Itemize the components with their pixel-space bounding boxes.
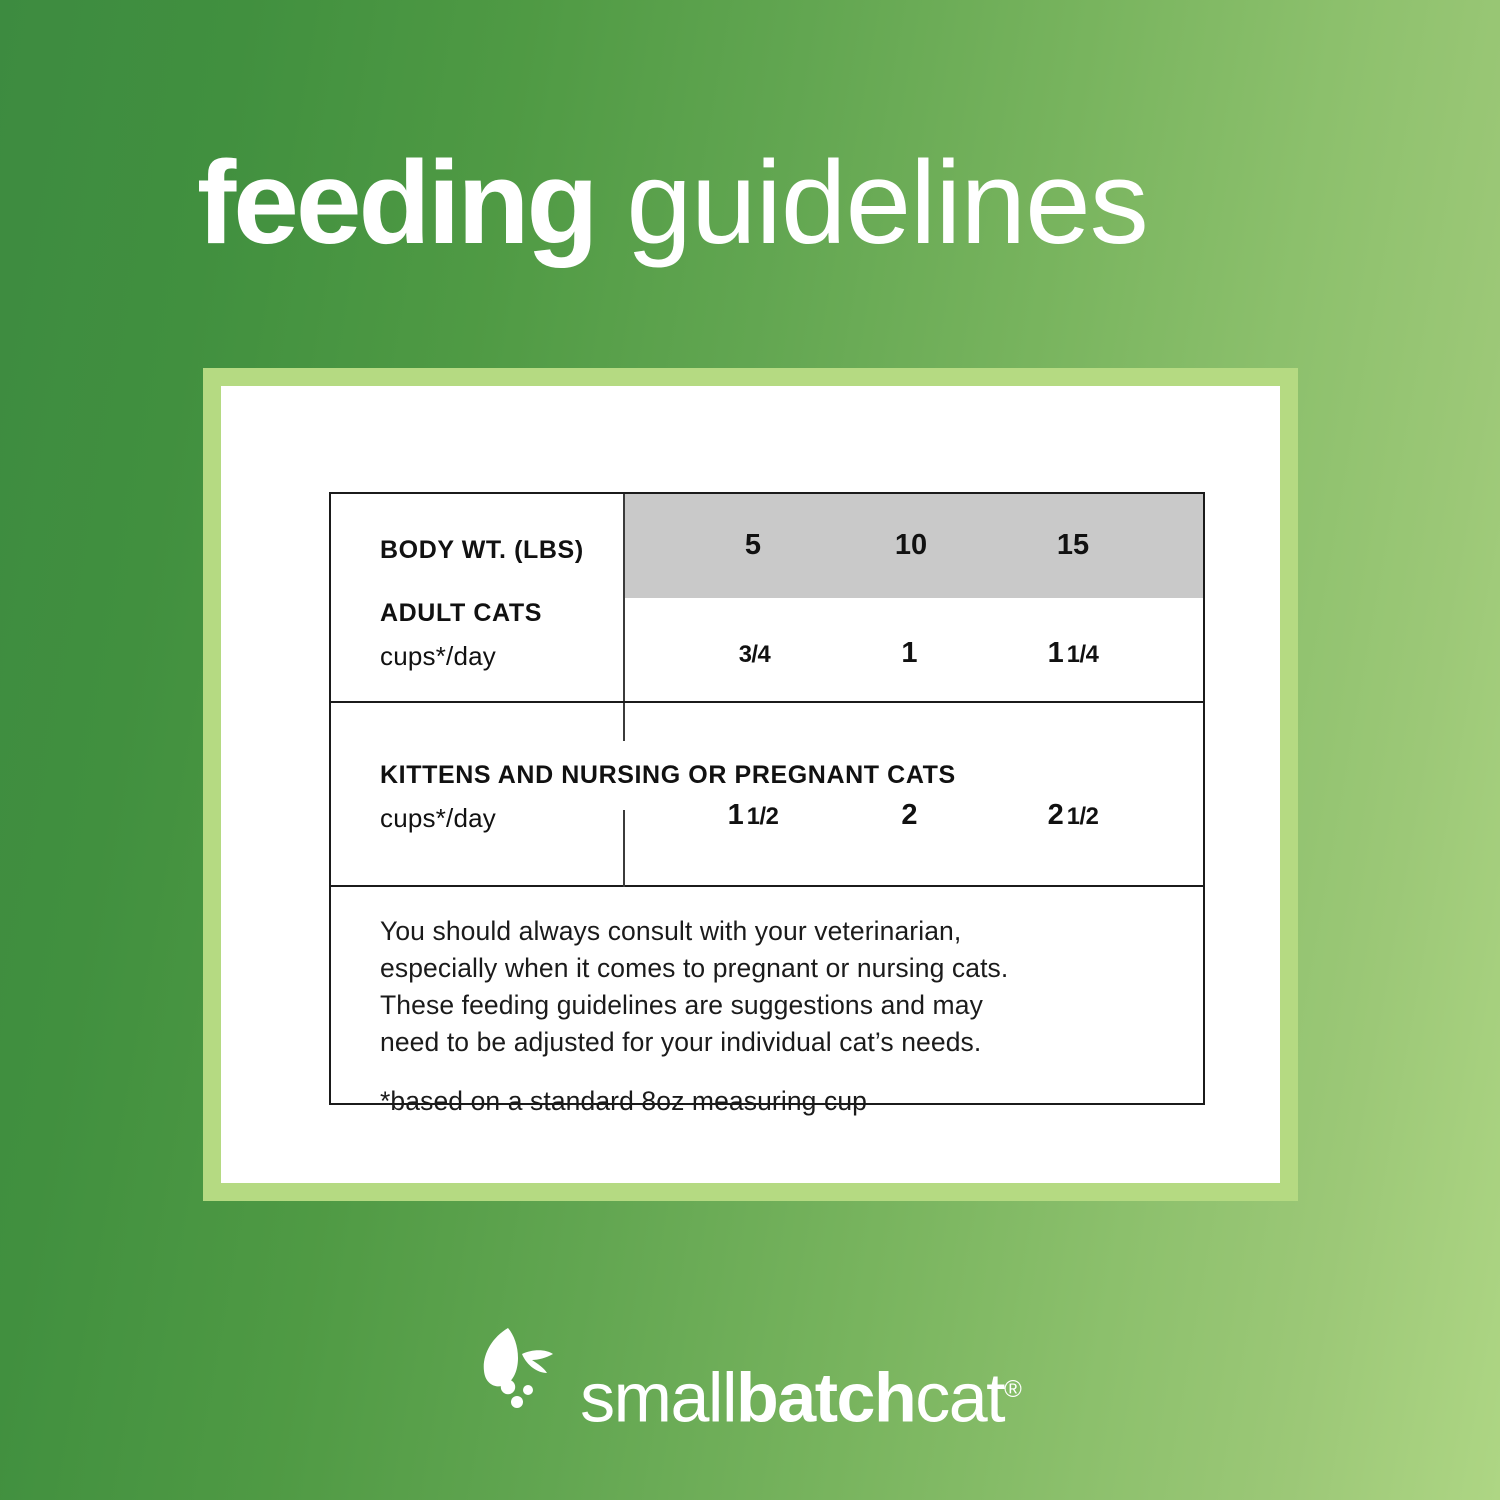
page-title-light: guidelines <box>626 137 1147 269</box>
row-label-adult-cats: ADULT CATS <box>380 599 542 628</box>
table-horizontal-rule <box>331 701 1203 703</box>
disclaimer-line-1: You should always consult with your vete… <box>380 913 1173 950</box>
row-label-body-weight: BODY WT. (LBS) <box>380 536 584 565</box>
table-cell-weight-2: 15 <box>993 529 1153 562</box>
kitten-frac-2: 1/2 <box>1067 803 1099 830</box>
measuring-cup-footnote: *based on a standard 8oz measuring cup <box>380 1083 1173 1120</box>
disclaimer-text: You should always consult with your vete… <box>380 913 1173 1120</box>
disclaimer-box: You should always consult with your vete… <box>329 887 1205 1105</box>
feeding-table: BODY WT. (LBS) ADULT CATS cups*/day KITT… <box>329 492 1205 887</box>
table-cell-weight-1: 10 <box>831 529 991 562</box>
table-cell-adult-1: 1 <box>831 637 991 670</box>
table-vertical-divider-top <box>623 494 625 741</box>
guidelines-card-inner: BODY WT. (LBS) ADULT CATS cups*/day KITT… <box>221 386 1280 1183</box>
disclaimer-line-4: need to be adjusted for your individual … <box>380 1024 1173 1061</box>
brand-logo: smallbatchcat® <box>0 1314 1500 1434</box>
leaf-and-dots-logo-mark <box>478 1326 574 1430</box>
table-cell-kitten-2: 21/2 <box>993 799 1153 832</box>
kitten-whole-0: 1 <box>728 799 744 831</box>
page-title-bold: feeding <box>197 137 596 269</box>
disclaimer-line-3: These feeding guidelines are suggestions… <box>380 987 1173 1024</box>
adult-frac-2: 1/4 <box>1067 641 1099 668</box>
disclaimer-line-2: especially when it comes to pregnant or … <box>380 950 1173 987</box>
table-cell-kitten-0: 11/2 <box>673 799 833 832</box>
kitten-whole-1: 2 <box>901 799 917 831</box>
page-title: feeding guidelines <box>197 138 1327 268</box>
registered-trademark-icon: ® <box>1004 1376 1022 1403</box>
kitten-frac-0: 1/2 <box>747 803 779 830</box>
kitten-whole-2: 2 <box>1048 799 1064 831</box>
adult-whole-1: 1 <box>901 637 917 669</box>
adult-whole-2: 1 <box>1048 637 1064 669</box>
row-label-kittens: KITTENS AND NURSING OR PREGNANT CATS <box>380 761 956 790</box>
adult-frac-0: 3/4 <box>739 641 771 668</box>
guidelines-card: BODY WT. (LBS) ADULT CATS cups*/day KITT… <box>203 368 1298 1201</box>
table-cell-weight-0: 5 <box>673 529 833 562</box>
row-label-adult-cups-per-day: cups*/day <box>380 641 496 672</box>
row-label-kittens-cups-per-day: cups*/day <box>380 803 496 834</box>
table-cell-kitten-1: 2 <box>831 799 991 832</box>
table-cell-adult-0: 3/4 <box>673 637 833 670</box>
brand-word-batch: batch <box>736 1358 915 1436</box>
table-vertical-divider-bottom <box>623 810 625 887</box>
brand-wordmark: smallbatchcat® <box>580 1353 1022 1434</box>
table-cell-adult-2: 11/4 <box>993 637 1153 670</box>
brand-word-small: small <box>580 1358 736 1436</box>
brand-word-cat: cat <box>915 1358 1004 1436</box>
